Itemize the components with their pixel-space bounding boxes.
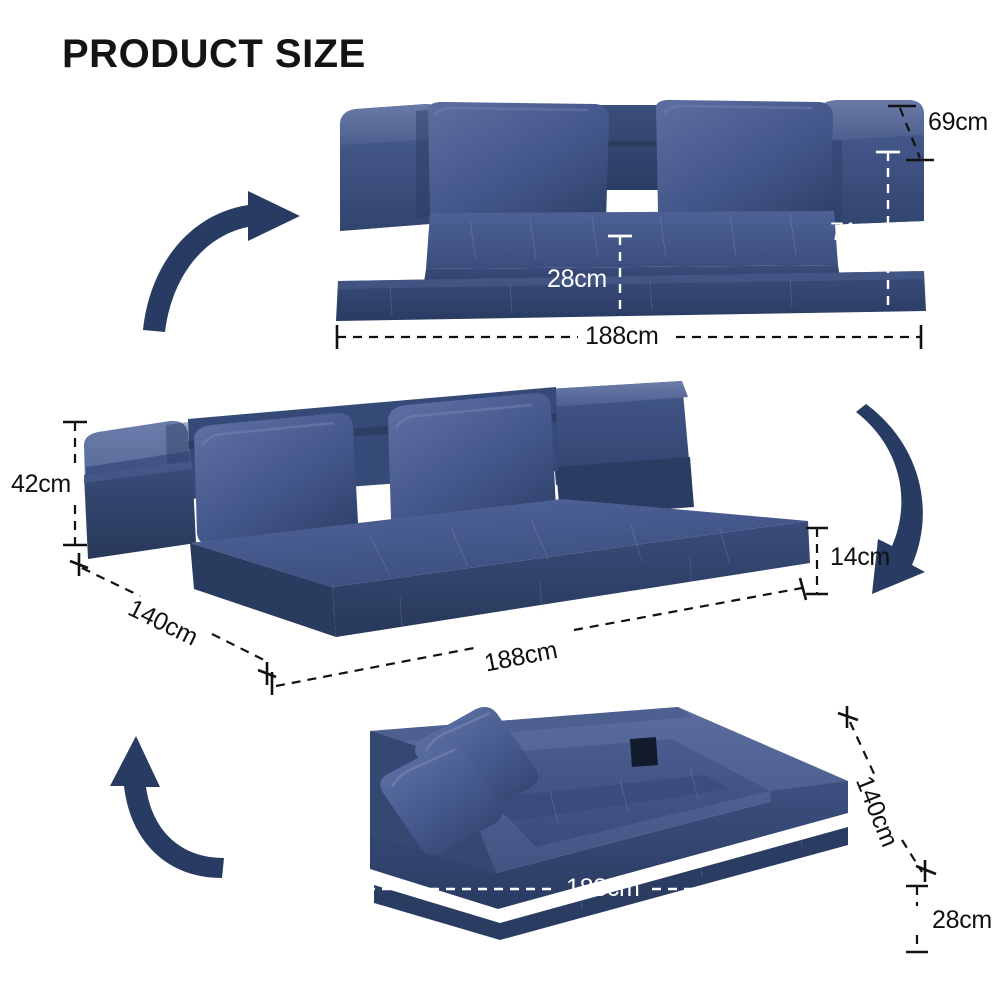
sofa-figure-flat-bed [300, 695, 860, 940]
infographic-canvas: PRODUCT SIZE [0, 0, 1000, 1000]
dim-label-28cm-bottom: 28cm [932, 906, 992, 935]
page-title: PRODUCT SIZE [62, 32, 366, 77]
dim-label-42cm: 42cm [11, 470, 71, 499]
dim-label-71cm: 71cm [830, 218, 890, 247]
dim-label-14cm: 14cm [830, 543, 890, 572]
arrow-bottom-left-icon [110, 736, 224, 878]
dim-line-28cm-bottom [906, 886, 928, 952]
dim-label-188cm-top: 188cm [585, 322, 659, 351]
arrow-top-left-icon [143, 191, 300, 332]
dim-label-69cm: 69cm [928, 108, 988, 137]
dim-label-188cm-bottom: 188cm [566, 874, 640, 903]
dim-label-28cm: 28cm [547, 265, 607, 294]
sofa-figure-folded [330, 95, 930, 325]
